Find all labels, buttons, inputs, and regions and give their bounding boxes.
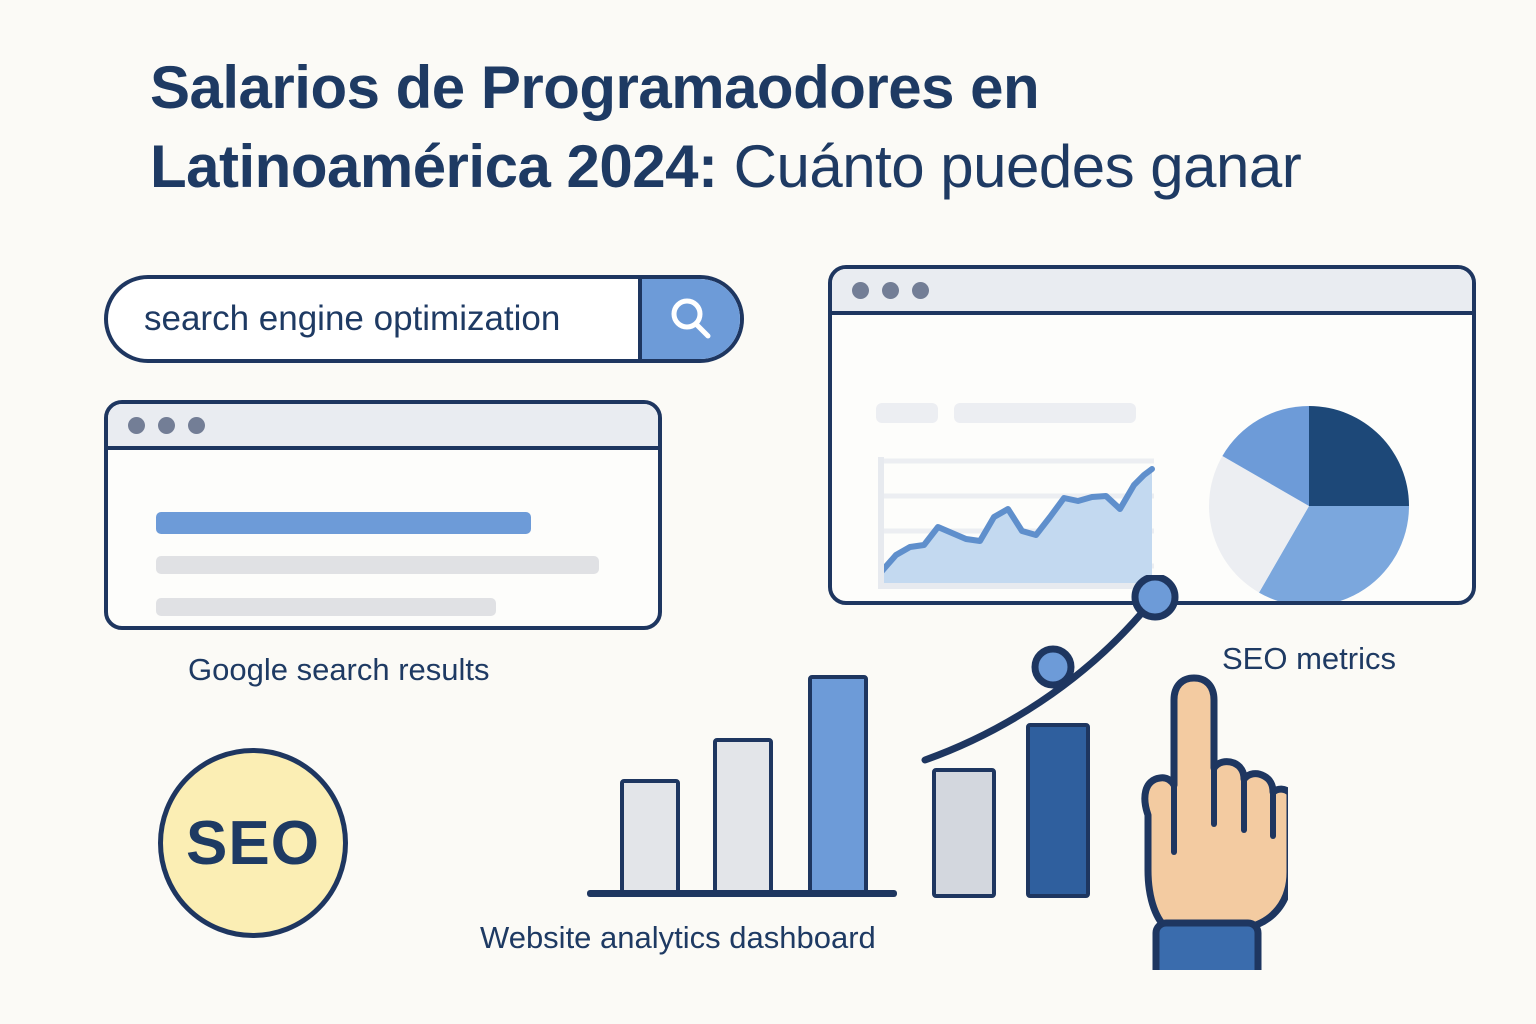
page-title-line1: Salarios de Programaodores en [150,54,1039,121]
label-google-search-results: Google search results [188,652,490,688]
search-icon [665,293,717,345]
trend-node-2 [1135,577,1175,617]
label-website-analytics-dashboard: Website analytics dashboard [480,920,876,956]
metric-chip-wide [954,403,1136,423]
bar-chart-axis [587,890,897,897]
minimize-dot-icon[interactable] [882,282,899,299]
page-title-line2-light: Cuánto puedes ganar [717,133,1301,200]
close-dot-icon[interactable] [128,417,145,434]
bar-2[interactable] [713,738,773,894]
search-input[interactable]: search engine optimization [108,279,638,359]
metric-chip-small [876,403,938,423]
minimize-dot-icon[interactable] [158,417,175,434]
seo-badge[interactable]: SEO [158,748,348,938]
maximize-dot-icon[interactable] [912,282,929,299]
page-title: Salarios de Programaodores en Latinoamér… [150,48,1536,206]
result-title-line[interactable] [156,512,531,534]
result-text-line-2 [156,598,496,616]
search-input-value: search engine optimization [144,299,560,339]
close-dot-icon[interactable] [852,282,869,299]
page-title-line2-bold: Latinoamérica 2024: [150,133,717,200]
google-search-results-window[interactable] [104,400,662,630]
analytics-dashboard-window[interactable] [828,265,1476,605]
result-text-line-1 [156,556,599,574]
search-button[interactable] [638,279,740,359]
maximize-dot-icon[interactable] [188,417,205,434]
poster-canvas: Salarios de Programaodores en Latinoamér… [0,0,1536,1024]
search-bar[interactable]: search engine optimization [104,275,744,363]
dashboard-window-titlebar [832,269,1472,315]
traffic-sources-pie-chart [1204,403,1414,605]
trend-node-1 [1035,649,1071,685]
results-window-titlebar [108,404,658,450]
seo-badge-label: SEO [186,808,320,879]
bar-1[interactable] [620,779,680,894]
pointing-hand-icon [1118,640,1288,970]
bar-4[interactable] [932,768,996,898]
bar-3[interactable] [808,675,868,894]
